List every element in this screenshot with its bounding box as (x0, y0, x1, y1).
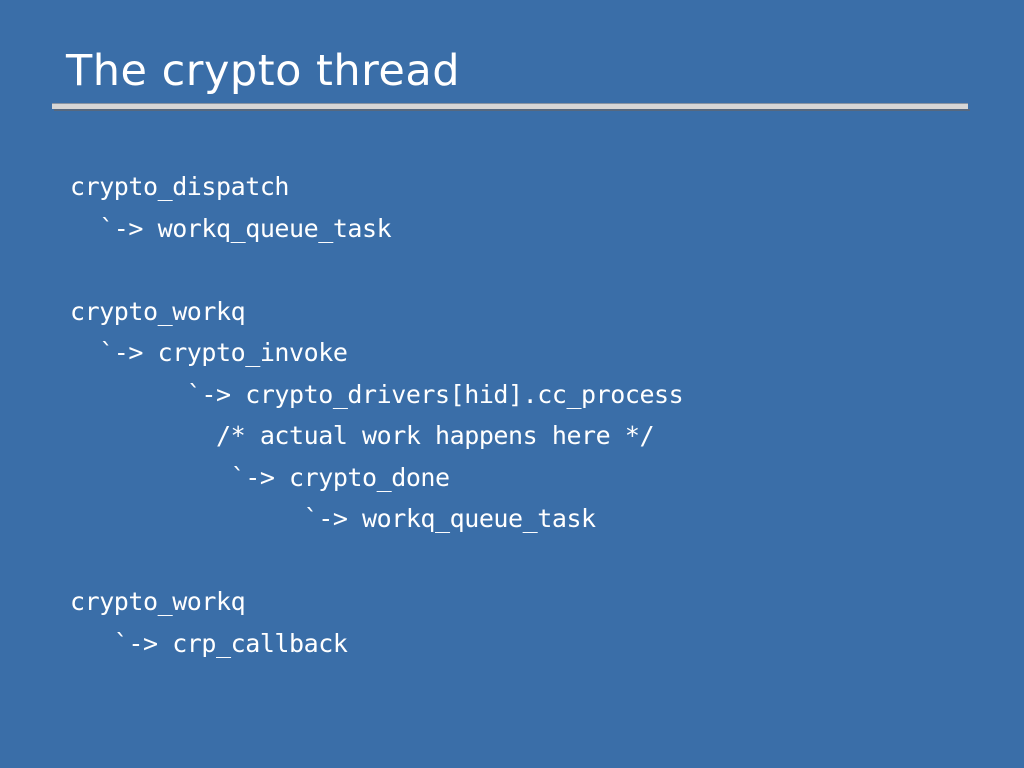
code-line: crypto_dispatch (70, 166, 990, 208)
page-title: The crypto thread (66, 46, 460, 96)
title-divider (52, 103, 968, 111)
code-line: `-> workq_queue_task (70, 208, 990, 250)
code-line: crypto_workq (70, 581, 990, 623)
code-line: `-> workq_queue_task (70, 498, 990, 540)
title-divider-shadow (54, 109, 970, 111)
code-line-blank (70, 249, 990, 291)
code-line: /* actual work happens here */ (70, 415, 990, 457)
code-line-blank (70, 540, 990, 582)
slide-canvas: The crypto thread crypto_dispatch `-> wo… (0, 0, 1024, 768)
code-line: `-> crypto_done (70, 457, 990, 499)
code-line: `-> crypto_invoke (70, 332, 990, 374)
code-line: crypto_workq (70, 291, 990, 333)
code-line: `-> crypto_drivers[hid].cc_process (70, 374, 990, 416)
call-trace-code-block: crypto_dispatch `-> workq_queue_task cry… (70, 166, 990, 664)
code-line: `-> crp_callback (70, 623, 990, 665)
